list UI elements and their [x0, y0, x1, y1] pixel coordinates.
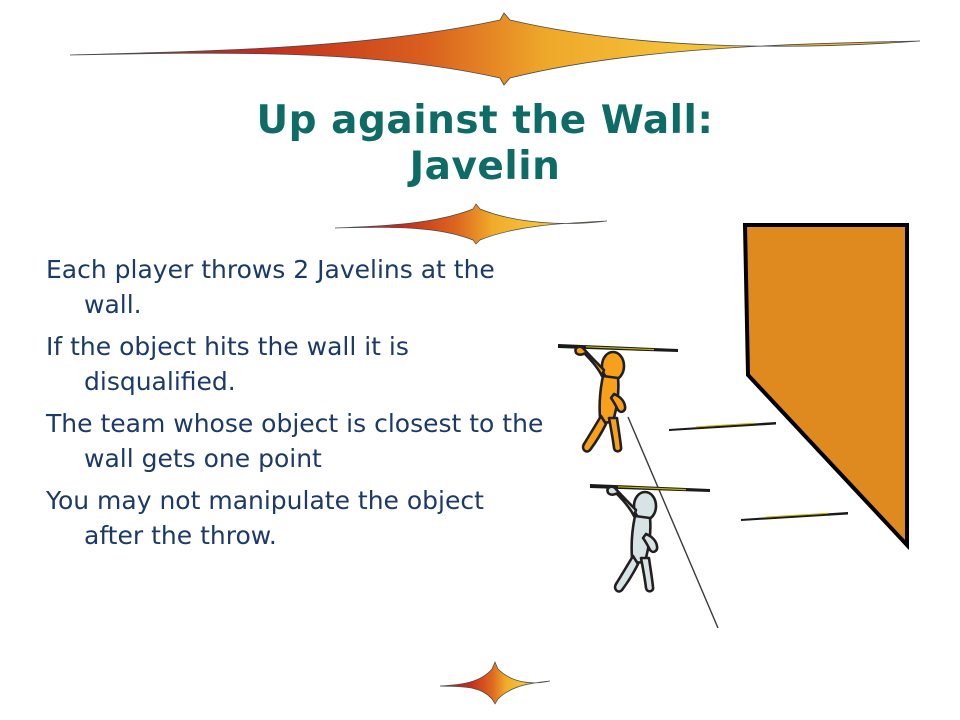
slide-canvas: Up against the Wall: Javelin Each player… [0, 0, 960, 720]
javelin-on-ground-icon [740, 509, 850, 525]
page-title: Up against the Wall: Javelin [140, 98, 830, 190]
diamond-star-ornament-middle [335, 203, 607, 245]
diamond-star-ornament-bottom [440, 660, 550, 706]
stick-figure-throwing-javelin-grey [588, 478, 718, 598]
bullet-item: Each player throws 2 Javelins at the wal… [46, 252, 546, 322]
bullet-item: You may not manipulate the object after … [46, 483, 546, 553]
bullet-item: If the object hits the wall it is disqua… [46, 329, 546, 399]
wall-polygon-shape [735, 215, 960, 555]
stick-figure-throwing-javelin-orange [556, 338, 686, 458]
bullet-list: Each player throws 2 Javelins at the wal… [46, 252, 546, 553]
diamond-star-ornament-top [70, 8, 920, 86]
bullet-item: The team whose object is closest to the … [46, 406, 546, 476]
